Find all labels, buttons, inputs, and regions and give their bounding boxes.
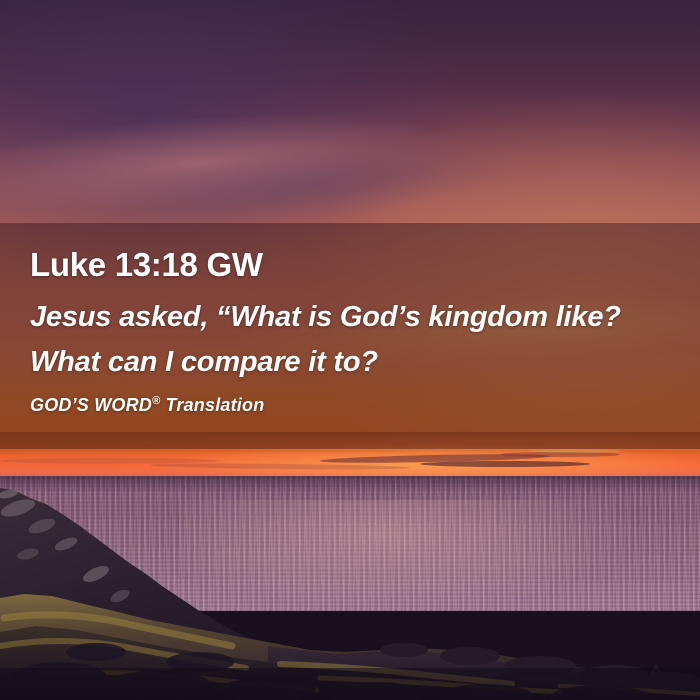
horizon-cloud-bar — [0, 458, 220, 464]
verse-image-scene: Luke 13:18 GW Jesus asked, “What is God’… — [0, 0, 700, 700]
verse-reference: Luke 13:18 GW — [30, 246, 263, 284]
translation-name: GOD’S WORD — [30, 395, 152, 415]
coastal-headland — [0, 470, 700, 700]
translation-credit: GOD’S WORD® Translation — [30, 395, 264, 416]
horizon-cloud-bar — [420, 461, 590, 467]
verse-body-text: Jesus asked, “What is God’s kingdom like… — [30, 295, 670, 385]
verse-text-block: Luke 13:18 GW Jesus asked, “What is God’… — [0, 223, 700, 449]
horizon-cloud-bar — [530, 449, 620, 453]
translation-suffix: Translation — [160, 395, 264, 415]
